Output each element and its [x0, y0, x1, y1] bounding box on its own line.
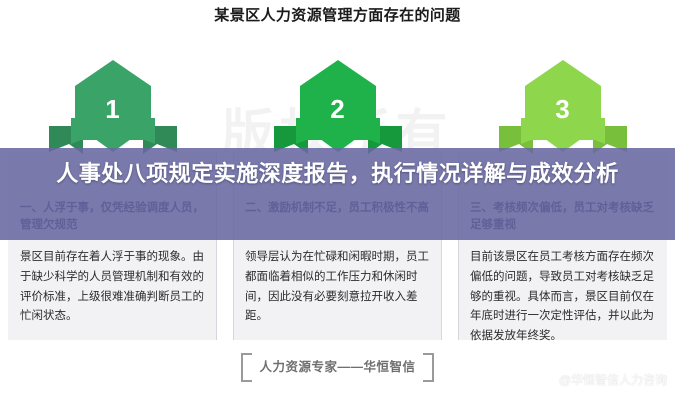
- overlay-headline: 人事处八项规定实施深度报告，执行情况详解与成效分析: [0, 158, 675, 190]
- weibo-watermark: @华恒智信人力咨询: [543, 371, 667, 388]
- weibo-handle: @华恒智信人力咨询: [559, 371, 667, 388]
- infographic-canvas: 某景区人力资源管理方面存在的问题 版权所有 1 一、人浮于事，仅凭经验调度人员，…: [0, 0, 675, 400]
- badge-number-2: 2: [330, 96, 344, 122]
- badge-number-3: 3: [555, 96, 569, 122]
- page-title: 某景区人力资源管理方面存在的问题: [0, 4, 675, 25]
- badge-number-1: 1: [105, 96, 119, 122]
- column-body-2: 领导层认为在忙碌和闲暇时期，员工都面临着相似的工作压力和休闲时间，因此没有必要刻…: [245, 248, 436, 327]
- credit-label: 人力资源专家——华恒智信: [241, 353, 433, 378]
- weibo-eye-icon: [543, 373, 556, 386]
- column-body-1: 景区目前存在着人浮于事的现象。由于缺少科学的人员管理机制和有效的评价标准，上级很…: [20, 248, 211, 327]
- column-body-3: 目前该景区在员工考核方面存在频次偏低的问题，导致员工对考核缺乏足够的重视。具体而…: [470, 248, 661, 347]
